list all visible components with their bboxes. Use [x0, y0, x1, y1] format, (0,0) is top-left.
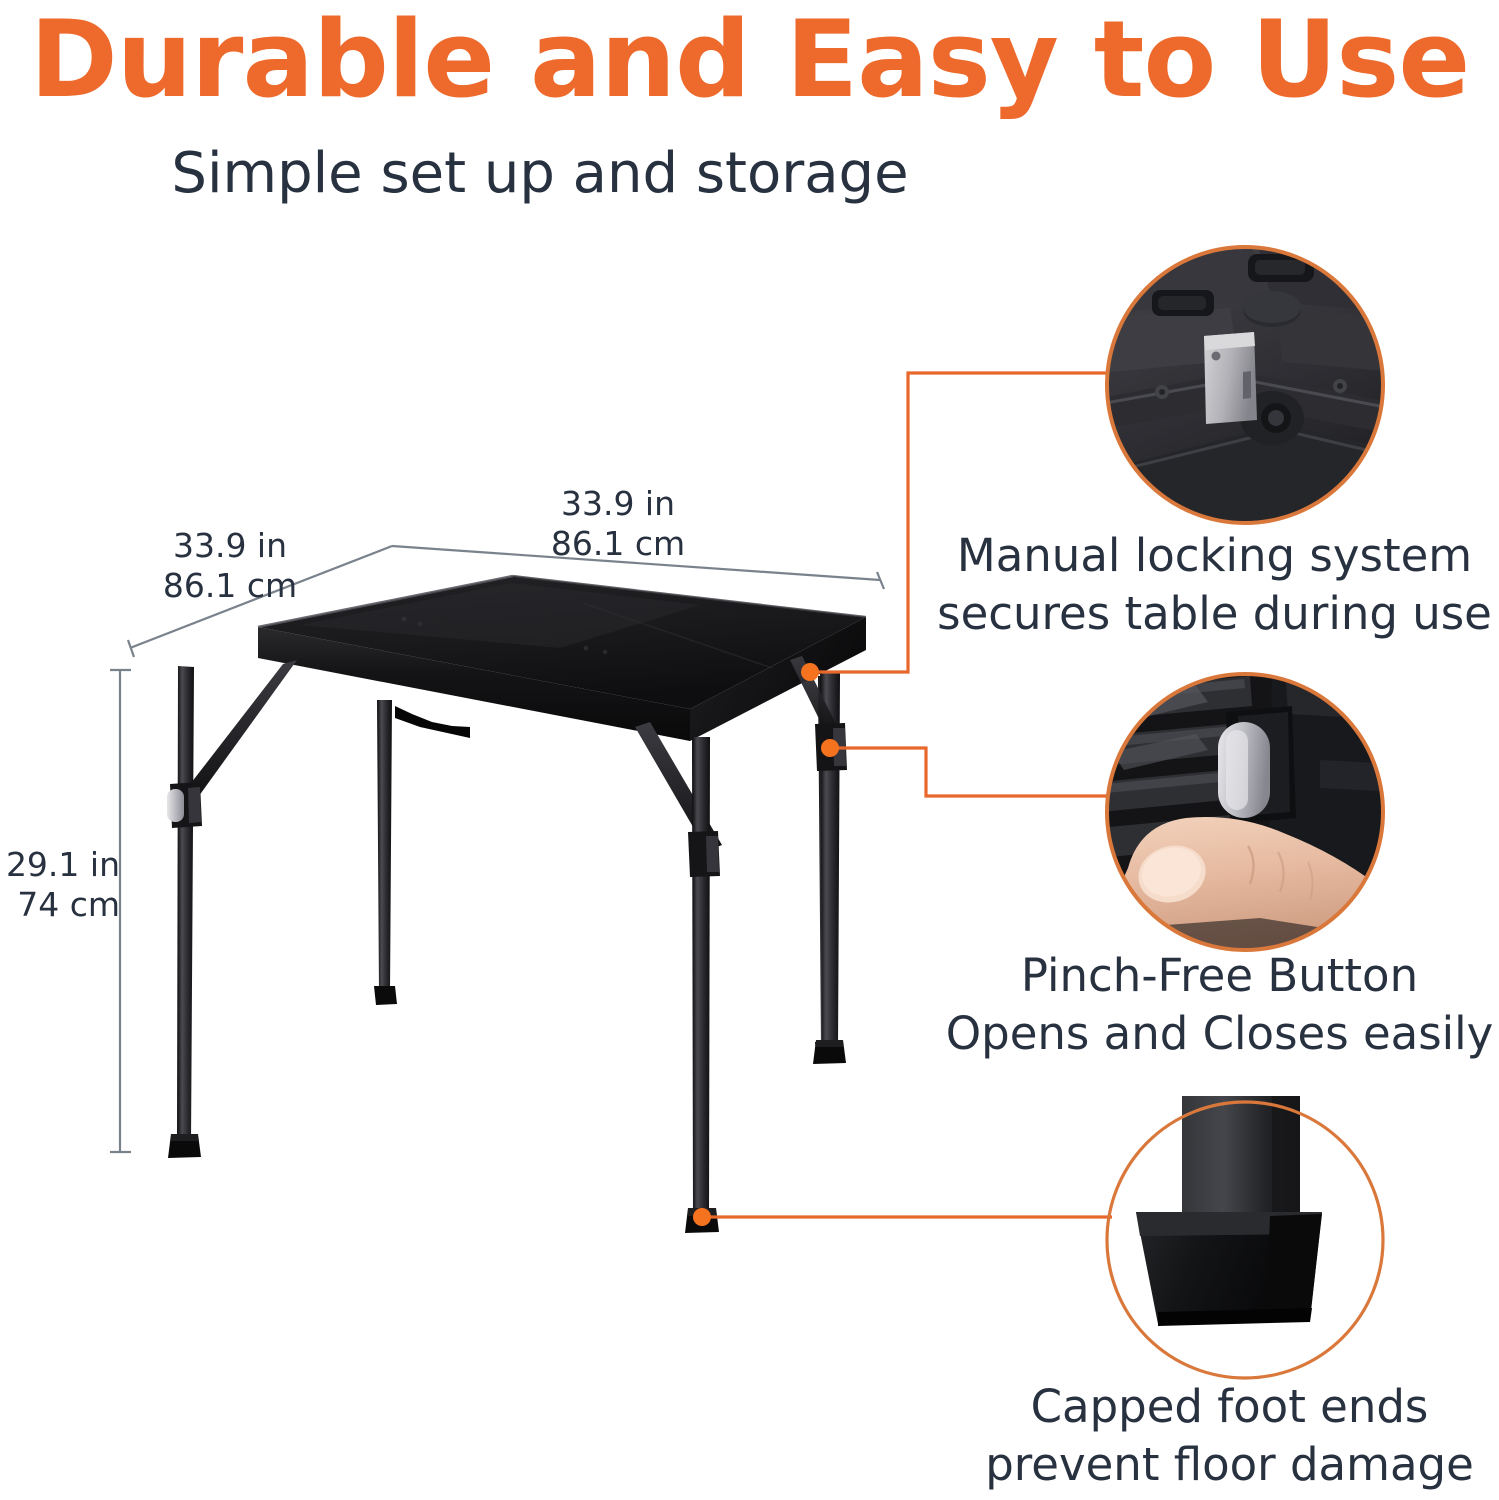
dimension-lines [110, 546, 884, 1152]
callout-image-pinch-free-button [0, 0, 1499, 1500]
callout-2-line-1: Pinch-Free Button [1021, 949, 1418, 1002]
dimension-depth-inches: 33.9 in [173, 526, 287, 565]
callout-2-line-2: Opens and Closes easily [946, 1007, 1494, 1060]
dimension-depth: 33.9 in 86.1 cm [80, 526, 380, 606]
callout-caption-capped-foot-ends: Capped foot ends prevent floor damage [960, 1378, 1499, 1494]
infographic-canvas: Durable and Easy to Use Simple set up an… [0, 0, 1499, 1500]
product-illustration [0, 0, 1499, 1500]
callout-image-capped-foot-ends [0, 0, 1499, 1500]
dimension-width-inches: 33.9 in [561, 484, 675, 523]
page-subtitle: Simple set up and storage [0, 142, 1080, 206]
dimension-width: 33.9 in 86.1 cm [448, 484, 788, 564]
callout-image-manual-locking-system [0, 0, 1499, 1500]
table-front-right-leg [635, 722, 722, 1233]
dimension-width-cm: 86.1 cm [551, 524, 685, 563]
callout-1-line-1: Manual locking system [957, 529, 1472, 582]
table-front-left-leg [167, 660, 297, 1158]
callout-connectors [0, 0, 1499, 1500]
callout-caption-pinch-free-button: Pinch-Free Button Opens and Closes easil… [940, 947, 1499, 1063]
callout-3-line-1: Capped foot ends [1031, 1380, 1429, 1433]
dimension-depth-cm: 86.1 cm [163, 566, 297, 605]
dimension-height-cm: 74 cm [17, 885, 120, 924]
callout-3-line-2: prevent floor damage [985, 1438, 1474, 1491]
table-right-rear-leg [790, 656, 847, 1064]
page-title: Durable and Easy to Use [0, 4, 1499, 116]
callout-1-line-2: secures table during use [937, 587, 1492, 640]
dimension-height: 29.1 in 74 cm [0, 845, 120, 925]
callout-caption-manual-locking-system: Manual locking system secures table duri… [930, 527, 1499, 643]
table-rear-legs [374, 676, 840, 1062]
dimension-height-inches: 29.1 in [6, 845, 120, 884]
callout-anchor-dots [693, 663, 839, 1226]
